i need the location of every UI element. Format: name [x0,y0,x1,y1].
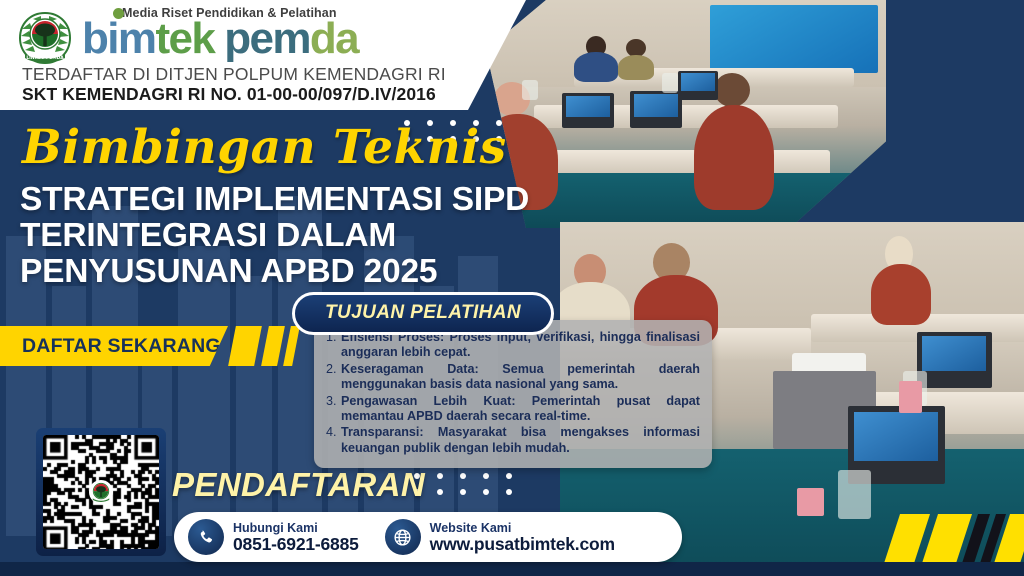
register-now-label: DAFTAR SEKARANG [22,335,221,358]
objective-item: 3.Pengawasan Lebih Kuat: Pemerintah pusa… [326,394,700,425]
bottom-strip [0,562,1024,576]
brand-part-pem: pem [224,14,310,63]
grid-dot [483,473,489,479]
objective-item: 4.Transparansi: Masyarakat bisa mengakse… [326,425,700,456]
contact-website-value: www.pusatbimtek.com [430,535,615,554]
qr-code-icon[interactable] [36,428,166,556]
brand-part-tek: tek [155,14,214,63]
main-headline: STRATEGI IMPLEMENTASI SIPD TERINTEGRASI … [20,182,529,290]
main-headline-line-2: TERINTEGRASI DALAM [20,218,529,254]
main-headline-line-3: PENYUSUNAN APBD 2025 [20,254,529,290]
objectives-badge-label: TUJUAN PELATIHAN [325,302,521,323]
contact-bar: Hubungi Kami 0851-6921-6885 Website Kami… [174,512,682,562]
grid-dot [460,473,466,479]
poster-canvas: LINKEU PEMDA Media Riset Pendidikan & Pe… [0,0,1024,576]
registration-line-1: TERDAFTAR DI DITJEN POLPUM KEMENDAGRI RI [22,64,446,85]
main-headline-line-1: STRATEGI IMPLEMENTASI SIPD [20,182,529,218]
registration-line-2: SKT KEMENDAGRI RI NO. 01-00-00/097/D.IV/… [22,84,436,105]
grid-dot [437,473,443,479]
dot-grid-bottom [414,473,512,495]
objective-text: Transparansi: Masyarakat bisa mengakses … [341,425,700,456]
grid-dot [506,489,512,495]
register-now-button[interactable]: DAFTAR SEKARANG [0,326,228,366]
brand-tagline: Media Riset Pendidikan & Pelatihan [122,6,358,20]
contact-phone-value: 0851-6921-6885 [233,535,359,554]
brand-part-bim: bim [82,14,155,63]
objective-number: 4. [326,425,341,440]
objective-text: Pengawasan Lebih Kuat: Pemerintah pusat … [341,394,700,425]
brand-logotype: Media Riset Pendidikan & Pelatihan bimte… [82,6,358,61]
phone-icon [188,519,224,555]
grid-dot [460,489,466,495]
contact-website[interactable]: Website Kami www.pusatbimtek.com [385,519,615,555]
brand-dot-icon [113,8,124,19]
objectives-badge: TUJUAN PELATIHAN [292,292,554,335]
objective-item: 2.Keseragaman Data: Semua pemerintah dae… [326,362,700,393]
globe-icon [385,519,421,555]
contact-phone-label: Hubungi Kami [233,521,359,535]
qr-center-emblem-icon [89,480,113,504]
register-now-banner[interactable]: DAFTAR SEKARANG [0,326,228,366]
registration-heading: PENDAFTARAN [172,466,425,504]
contact-phone[interactable]: Hubungi Kami 0851-6921-6885 [188,519,359,555]
contact-website-label: Website Kami [430,521,615,535]
objectives-card: 1.Efisiensi Proses: Proses input, verifi… [314,320,712,468]
training-room-photo-top [486,0,886,228]
script-headline: Bimbingan Teknis [22,122,507,174]
grid-dot [506,473,512,479]
grid-dot [483,489,489,495]
objective-text: Keseragaman Data: Semua pemerintah daera… [341,362,700,393]
svg-text:LINKEU PEMDA: LINKEU PEMDA [26,55,64,61]
brand-part-da: da [310,14,358,63]
objective-number: 3. [326,394,341,409]
grid-dot [437,489,443,495]
objectives-list: 1.Efisiensi Proses: Proses input, verifi… [326,330,700,456]
objective-number: 2. [326,362,341,377]
